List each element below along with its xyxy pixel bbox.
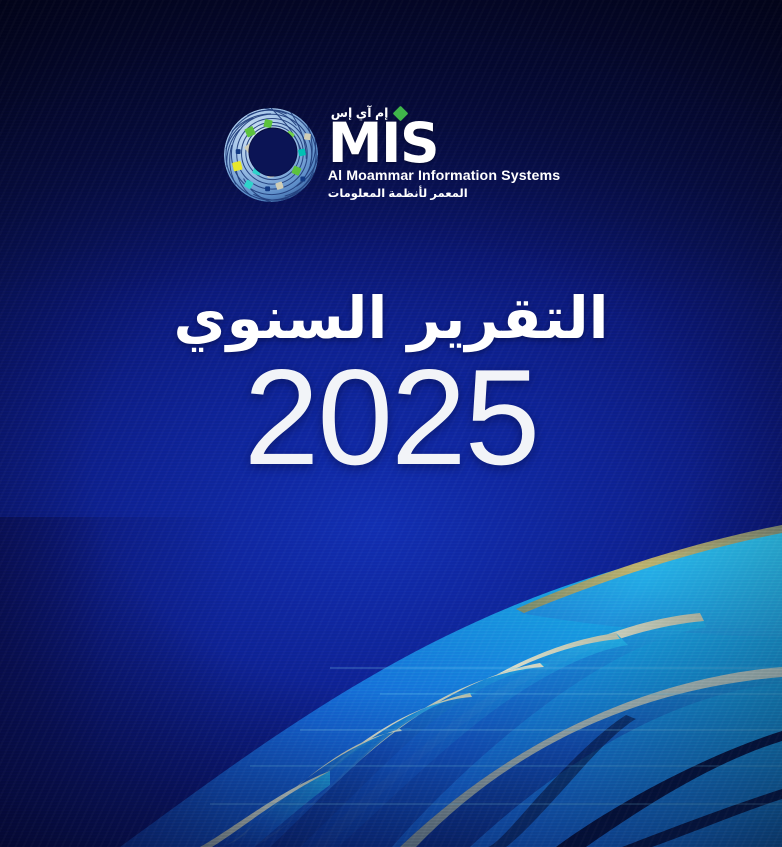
cover-title-block: التقرير السنوي 2025 — [0, 288, 782, 476]
mis-mosaic-spiral-logo-icon — [222, 106, 320, 204]
company-name-english: Al Moammar Information Systems — [328, 168, 560, 186]
company-name-arabic: المعمر لأنظمة المعلومات — [328, 187, 468, 203]
report-title-arabic: التقرير السنوي — [0, 288, 782, 349]
report-year: 2025 — [0, 359, 782, 476]
mis-wordmark-block: إم آي إس MIS Al Moammar Information Syst… — [328, 104, 560, 203]
mis-wordmark: MIS — [328, 120, 438, 167]
mis-logo-lockup: إم آي إس MIS Al Moammar Information Syst… — [0, 104, 782, 204]
annual-report-cover: إم آي إس MIS Al Moammar Information Syst… — [0, 0, 782, 847]
